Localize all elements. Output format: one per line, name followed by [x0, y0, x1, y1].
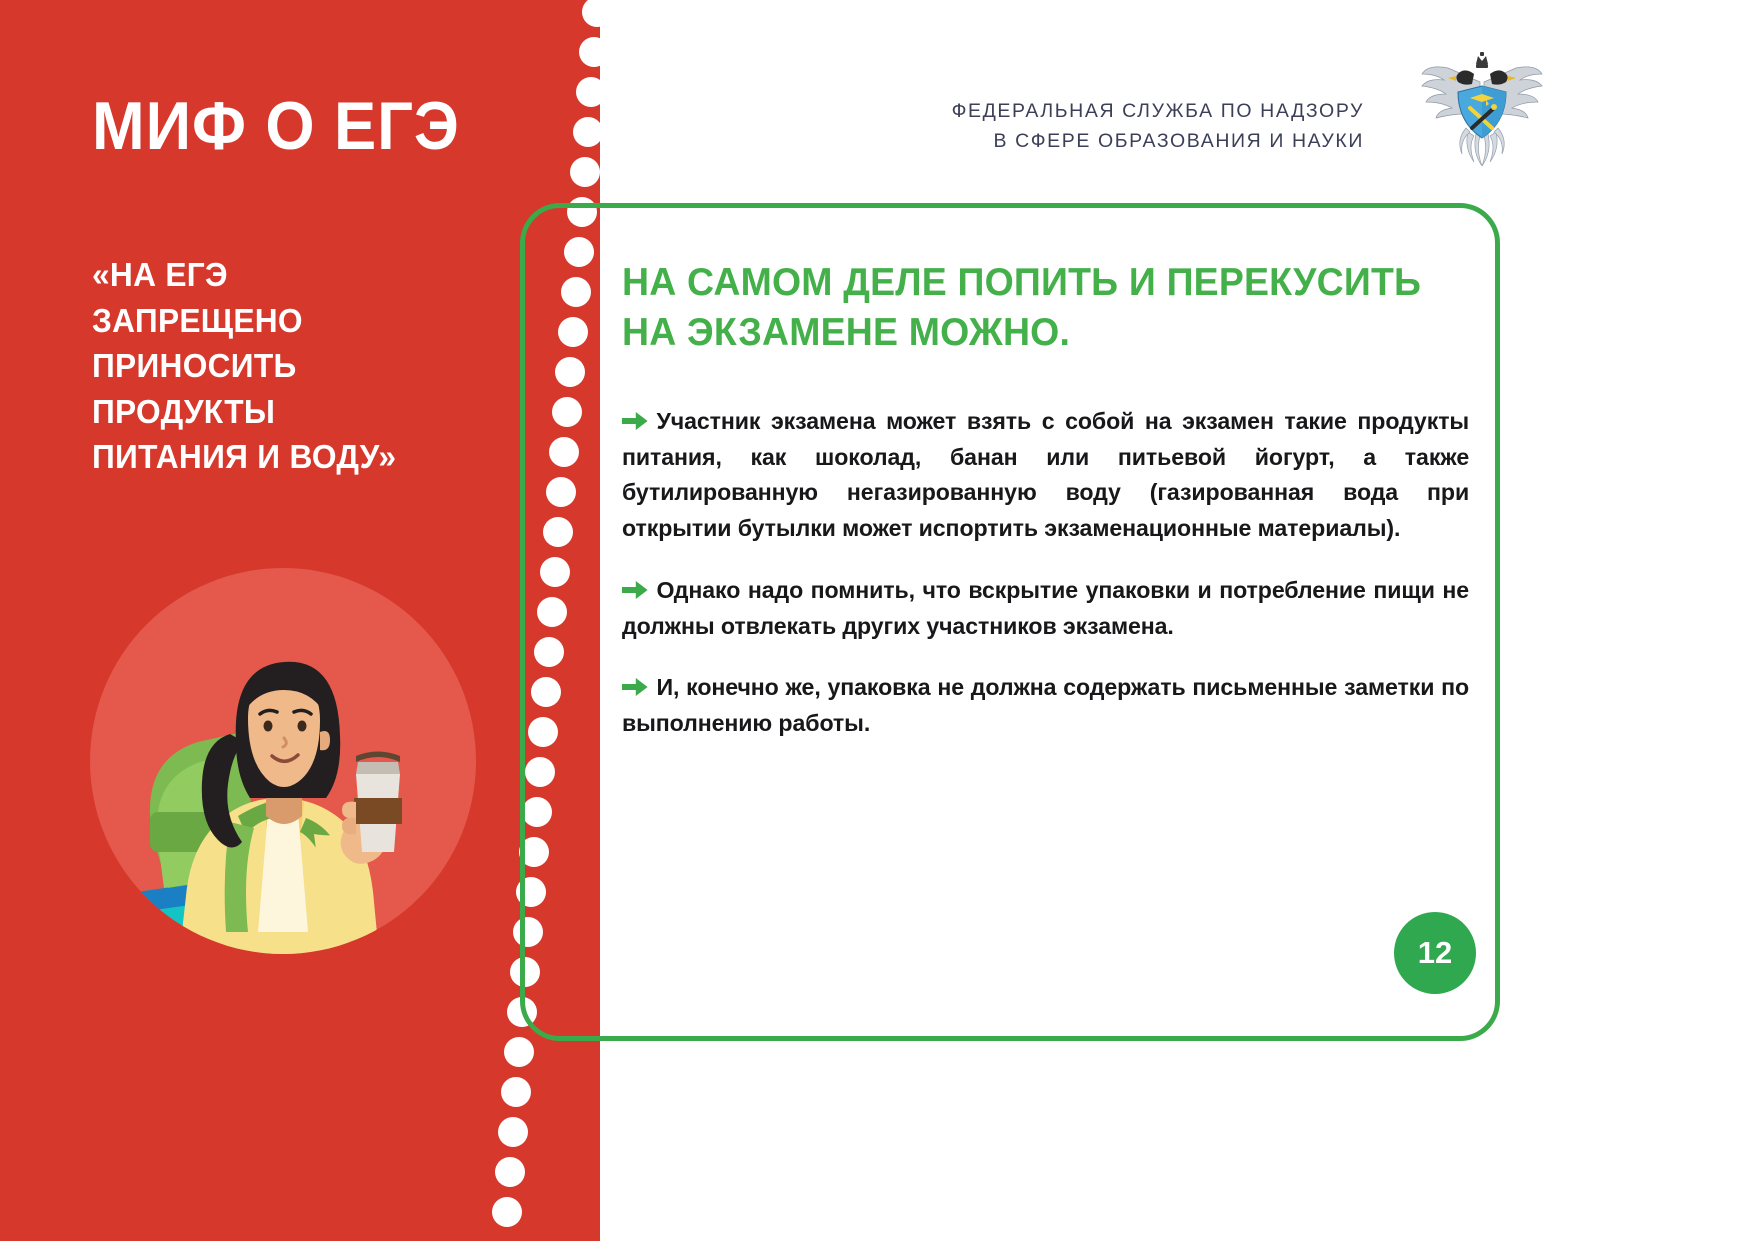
- bullet-text: Участник экзамена может взять с собой на…: [622, 408, 1469, 541]
- page-number-badge: 12: [1394, 912, 1476, 994]
- fact-body: Участник экзамена может взять с собой на…: [622, 404, 1482, 742]
- bullet-text: И, конечно же, упаковка не должна содерж…: [622, 674, 1469, 736]
- bullet-paragraph: Участник экзамена может взять с собой на…: [622, 404, 1469, 547]
- quote-line-2: ЗАПРЕЩЕНО: [92, 298, 495, 344]
- arrow-right-icon: [622, 581, 648, 599]
- rosobrnadzor-eagle-emblem-icon: [1418, 52, 1546, 170]
- quote-line-5: ПИТАНИЯ И ВОДУ»: [92, 434, 495, 480]
- fact-heading-line-2: НА ЭКЗАМЕНЕ МОЖНО.: [622, 308, 1428, 358]
- slide-page: МИФ О ЕГЭ «НА ЕГЭ ЗАПРЕЩЕНО ПРИНОСИТЬ ПР…: [0, 0, 1754, 1241]
- quote-line-3: ПРИНОСИТЬ: [92, 343, 495, 389]
- student-illustration: [88, 566, 478, 956]
- bullet-text: Однако надо помнить, что вскрытие упаков…: [622, 577, 1469, 639]
- quote-line-1: «НА ЕГЭ: [92, 252, 495, 298]
- fact-heading: НА САМОМ ДЕЛЕ ПОПИТЬ И ПЕРЕКУСИТЬ НА ЭКЗ…: [622, 258, 1428, 358]
- bullet-paragraph: И, конечно же, упаковка не должна содерж…: [622, 670, 1469, 741]
- arrow-right-icon: [622, 678, 648, 696]
- left-red-panel: МИФ О ЕГЭ «НА ЕГЭ ЗАПРЕЩЕНО ПРИНОСИТЬ ПР…: [0, 0, 600, 1241]
- page-title: МИФ О ЕГЭ: [92, 92, 529, 160]
- myth-quote: «НА ЕГЭ ЗАПРЕЩЕНО ПРИНОСИТЬ ПРОДУКТЫ ПИТ…: [92, 252, 495, 480]
- header-line-1: ФЕДЕРАЛЬНАЯ СЛУЖБА ПО НАДЗОРУ: [952, 96, 1364, 126]
- fact-heading-line-1: НА САМОМ ДЕЛЕ ПОПИТЬ И ПЕРЕКУСИТЬ: [622, 258, 1428, 308]
- bullet-paragraph: Однако надо помнить, что вскрытие упаков…: [622, 573, 1469, 644]
- arrow-right-icon: [622, 412, 648, 430]
- header-line-2: В СФЕРЕ ОБРАЗОВАНИЯ И НАУКИ: [952, 126, 1364, 156]
- organization-header: ФЕДЕРАЛЬНАЯ СЛУЖБА ПО НАДЗОРУ В СФЕРЕ ОБ…: [952, 96, 1364, 156]
- quote-line-4: ПРОДУКТЫ: [92, 389, 495, 435]
